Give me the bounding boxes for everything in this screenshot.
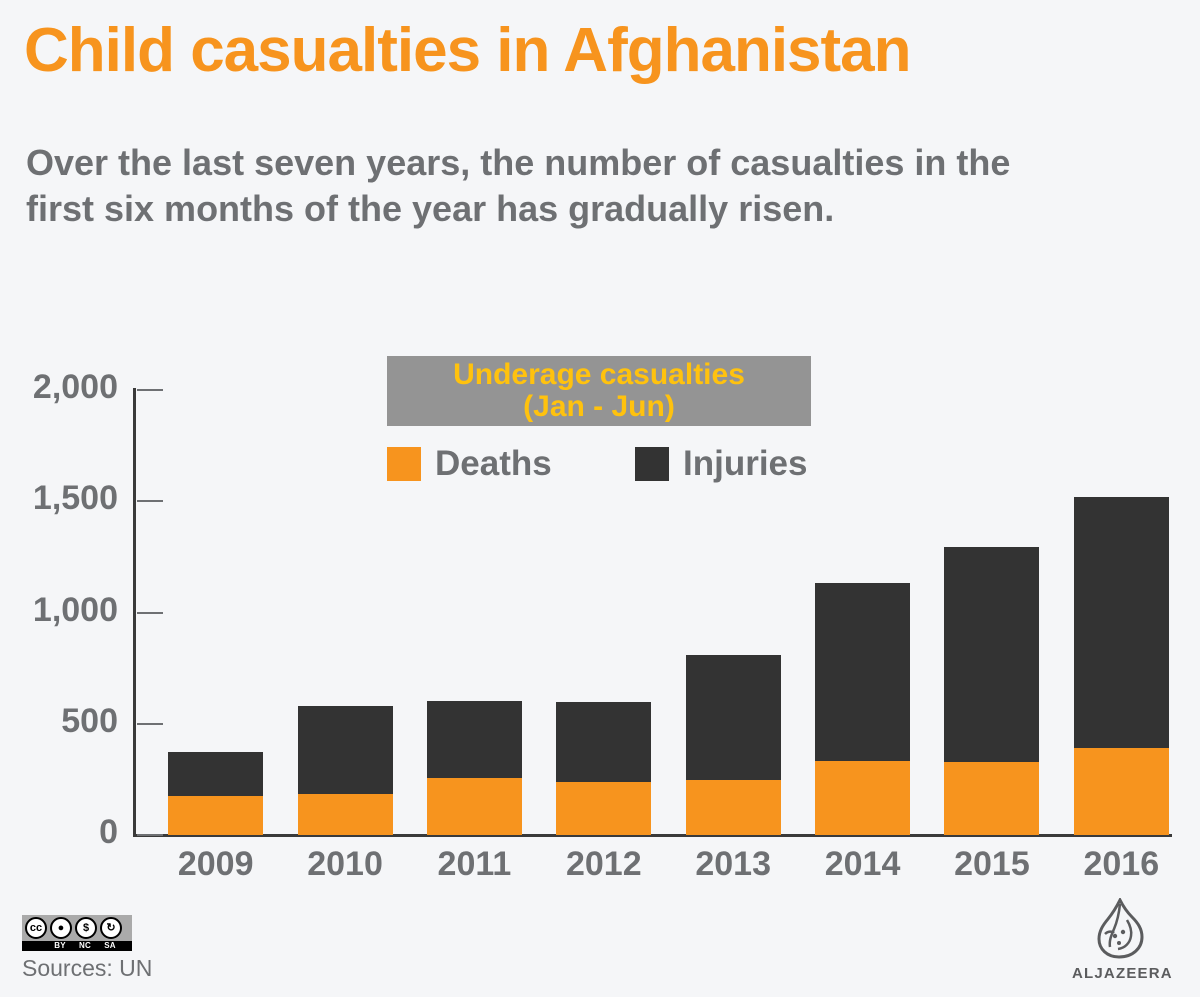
legend-label-deaths: Deaths: [435, 444, 552, 484]
bar-segment-injuries-2014: [815, 583, 910, 761]
bar-segment-injuries-2009: [168, 752, 263, 796]
bar-segment-injuries-2011: [427, 701, 522, 778]
cc-nc-dollar-slash-icon: $: [75, 917, 97, 939]
bar-segment-injuries-2012: [556, 702, 651, 782]
x-tick-label-2014: 2014: [800, 845, 925, 884]
legend-banner-text: Underage casualties (Jan - Jun): [453, 359, 745, 424]
bar-segment-injuries-2013: [686, 655, 781, 780]
bar-segment-deaths-2010: [298, 794, 393, 835]
y-tick-label-1500: 1,500: [33, 481, 118, 515]
bar-segment-deaths-2015: [944, 762, 1039, 835]
bar-2015: [944, 547, 1039, 835]
legend-banner: Underage casualties (Jan - Jun): [387, 356, 811, 426]
bar-2016: [1074, 497, 1169, 835]
x-tick-label-2011: 2011: [412, 845, 537, 884]
bar-2011: [427, 701, 522, 835]
legend-item-deaths: Deaths: [387, 444, 552, 484]
aljazeera-calligraphy-icon: [1072, 898, 1168, 964]
bar-segment-injuries-2016: [1074, 497, 1169, 748]
legend: Deaths Injuries: [387, 440, 817, 488]
legend-swatch-deaths: [387, 447, 421, 481]
legend-item-injuries: Injuries: [635, 444, 807, 484]
bar-segment-deaths-2011: [427, 778, 522, 835]
legend-label-injuries: Injuries: [683, 444, 807, 484]
bar-2014: [815, 583, 910, 835]
cc-sa-label: SA: [98, 941, 122, 950]
bar-chart: 05001,0001,5002,000 20092010201120122013…: [0, 0, 1200, 997]
sources-text: Sources: UN: [22, 955, 152, 982]
cc-by-person-icon: ●: [50, 917, 72, 939]
x-tick-label-2012: 2012: [541, 845, 666, 884]
bar-2010: [298, 706, 393, 835]
x-tick-label-2015: 2015: [929, 845, 1054, 884]
bar-segment-deaths-2009: [168, 796, 263, 835]
bar-segment-deaths-2013: [686, 780, 781, 835]
bar-2012: [556, 702, 651, 835]
legend-swatch-injuries: [635, 447, 669, 481]
y-tick-label-2000: 2,000: [33, 370, 118, 404]
bar-segment-deaths-2016: [1074, 748, 1169, 835]
bar-segment-deaths-2014: [815, 761, 910, 835]
bar-2013: [686, 655, 781, 835]
y-axis-line: [133, 388, 136, 837]
y-tick-label-0: 0: [99, 815, 118, 849]
cc-logo-icon: cc: [25, 917, 47, 939]
x-tick-label-2013: 2013: [671, 845, 796, 884]
x-tick-label-2016: 2016: [1059, 845, 1184, 884]
cc-nc-label: NC: [73, 941, 97, 950]
x-tick-label-2009: 2009: [153, 845, 278, 884]
x-tick-label-2010: 2010: [283, 845, 408, 884]
bar-segment-injuries-2015: [944, 547, 1039, 762]
cc-sa-share-alike-icon: ↻: [100, 917, 122, 939]
infographic-page: Child casualties in Afghanistan Over the…: [0, 0, 1200, 997]
y-tick-label-500: 500: [61, 704, 118, 738]
bar-segment-deaths-2012: [556, 782, 651, 835]
bar-2009: [168, 752, 263, 835]
y-tick-label-1000: 1,000: [33, 593, 118, 627]
aljazeera-wordmark: ALJAZEERA: [1072, 965, 1168, 982]
aljazeera-logo: ALJAZEERA: [1072, 898, 1168, 990]
bar-segment-injuries-2010: [298, 706, 393, 794]
cc-by-label: BY: [48, 941, 72, 950]
creative-commons-badge: cc ● $ ↻ BY NC SA: [22, 915, 132, 951]
